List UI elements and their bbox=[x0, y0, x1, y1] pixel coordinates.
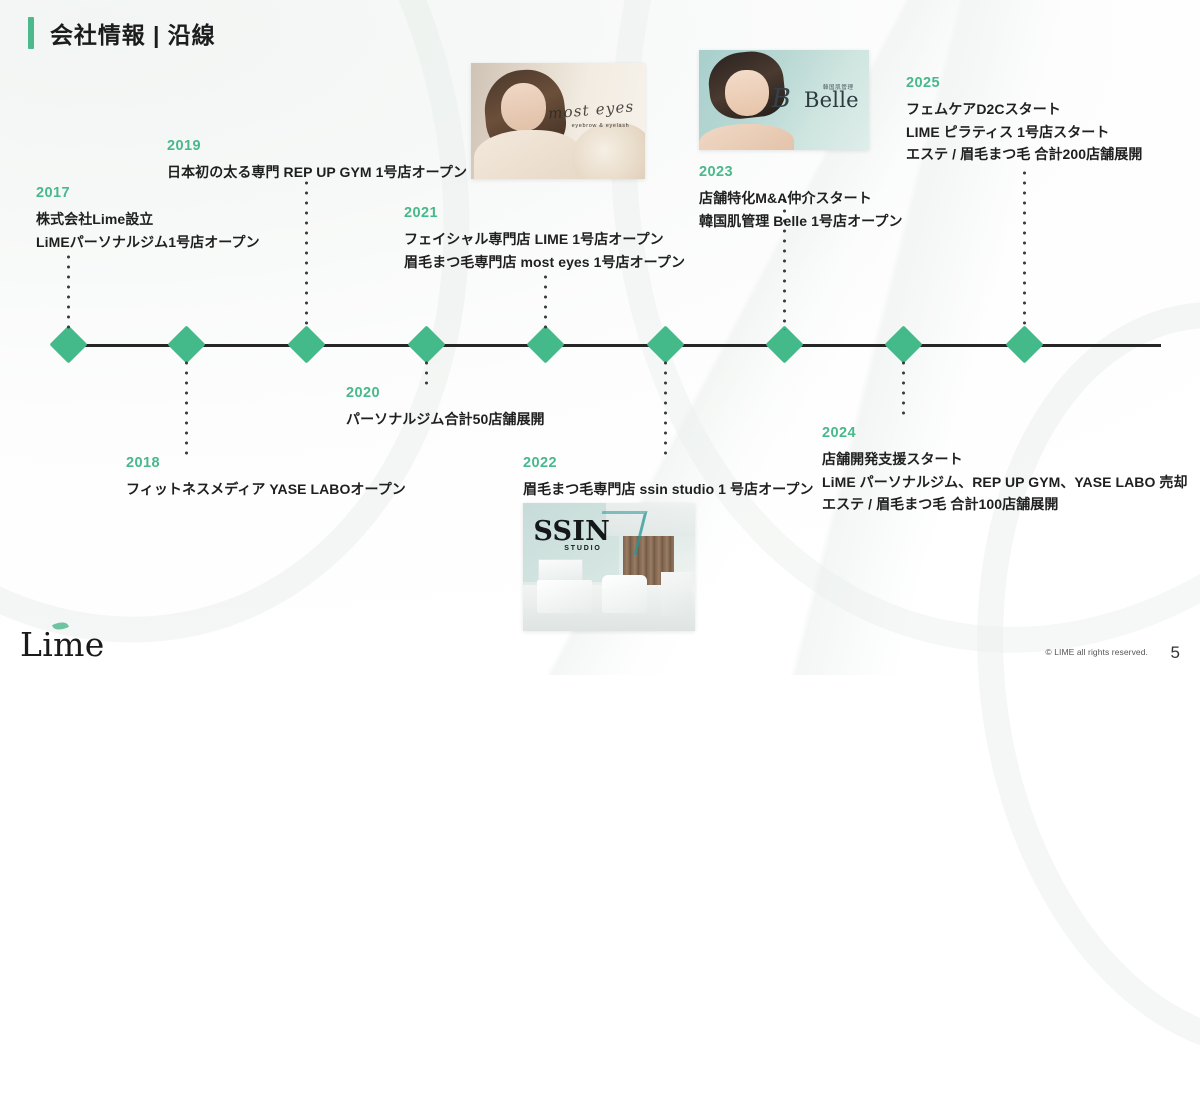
belle-monogram: B bbox=[772, 84, 791, 114]
belle-logo: Belle bbox=[804, 88, 859, 112]
timeline-entry-2022: 2022 眉毛まつ毛専門店 ssin studio 1 号店オープン bbox=[523, 455, 814, 501]
entry-year-2017: 2017 bbox=[36, 185, 260, 201]
photo-detail bbox=[725, 70, 769, 116]
timeline-entry-2018: 2018 フィットネスメディア YASE LABOオープン bbox=[126, 455, 406, 501]
photo-detail bbox=[602, 575, 647, 613]
entry-year-2019: 2019 bbox=[167, 138, 467, 154]
entry-text-2017: 株式会社Lime設立 LiMEパーソナルジム1号店オープン bbox=[36, 208, 260, 253]
entry-text-2021: フェイシャル専門店 LIME 1号店オープン 眉毛まつ毛専門店 most eye… bbox=[404, 228, 685, 273]
diamond-marker bbox=[1005, 325, 1043, 363]
timeline-entry-2019: 2019 日本初の太る専門 REP UP GYM 1号店オープン bbox=[167, 138, 467, 184]
entry-text-2023: 店舗特化M&A仲介スタート 韓国肌管理 Belle 1号店オープン bbox=[699, 187, 903, 232]
timeline-node-2025[interactable] bbox=[1011, 331, 1038, 358]
entry-line: 眉毛まつ毛専門店 ssin studio 1 号店オープン bbox=[523, 478, 814, 501]
header-accent-bar bbox=[28, 17, 34, 49]
entry-text-2025: フェムケアD2Cスタート LIME ピラティス 1号店スタート エステ / 眉毛… bbox=[906, 98, 1142, 166]
page-number: 5 bbox=[1171, 643, 1180, 663]
entry-year-2022: 2022 bbox=[523, 455, 814, 471]
entry-line: LiME パーソナルジム、REP UP GYM、YASE LABO 売却 bbox=[822, 471, 1188, 494]
photo-detail bbox=[501, 83, 546, 132]
copyright-text: © LIME all rights reserved. bbox=[1045, 647, 1148, 657]
entry-line: エステ / 眉毛まつ毛 合計200店舗展開 bbox=[906, 143, 1142, 166]
timeline-node-2020[interactable] bbox=[413, 331, 440, 358]
timeline-node-2019[interactable] bbox=[293, 331, 320, 358]
diamond-marker bbox=[526, 325, 564, 363]
timeline-node-2022[interactable] bbox=[652, 331, 679, 358]
entry-line: LIME ピラティス 1号店スタート bbox=[906, 121, 1142, 144]
most-eyes-sublabel: eyebrow & eyelash bbox=[572, 123, 630, 129]
entry-line: 店舗開発支援スタート bbox=[822, 448, 1188, 471]
diamond-marker bbox=[287, 325, 325, 363]
entry-line: パーソナルジム合計50店舗展開 bbox=[346, 408, 545, 431]
entry-year-2024: 2024 bbox=[822, 425, 1188, 441]
entry-line: 韓国肌管理 Belle 1号店オープン bbox=[699, 210, 903, 233]
entry-line: 眉毛まつ毛専門店 most eyes 1号店オープン bbox=[404, 251, 685, 274]
slide-header: 会社情報 | 沿線 bbox=[28, 16, 216, 50]
photo-detail bbox=[661, 572, 692, 616]
connector-2020 bbox=[425, 358, 428, 386]
page-title: 会社情報 | 沿線 bbox=[50, 16, 216, 50]
photo-most-eyes: most eyes eyebrow & eyelash bbox=[471, 63, 645, 179]
connector-2022 bbox=[664, 358, 667, 456]
entry-text-2024: 店舗開発支援スタート LiME パーソナルジム、REP UP GYM、YASE … bbox=[822, 448, 1188, 516]
timeline-node-2024[interactable] bbox=[890, 331, 917, 358]
entry-year-2023: 2023 bbox=[699, 164, 903, 180]
entry-year-2025: 2025 bbox=[906, 75, 1142, 91]
diamond-marker bbox=[49, 325, 87, 363]
logo-text: Lime bbox=[20, 625, 105, 664]
entry-line: フェイシャル専門店 LIME 1号店オープン bbox=[404, 228, 685, 251]
timeline-node-2023[interactable] bbox=[771, 331, 798, 358]
entry-year-2018: 2018 bbox=[126, 455, 406, 471]
ssin-logo: SSIN bbox=[533, 518, 610, 545]
entry-line: 店舗特化M&A仲介スタート bbox=[699, 187, 903, 210]
connector-2019 bbox=[305, 178, 308, 330]
connector-2018 bbox=[185, 358, 188, 456]
photo-belle: B 韓国肌管理 Belle bbox=[699, 50, 869, 150]
entry-year-2021: 2021 bbox=[404, 205, 685, 221]
photo-detail bbox=[537, 580, 592, 613]
timeline-axis bbox=[58, 344, 1161, 347]
entry-line: フェムケアD2Cスタート bbox=[906, 98, 1142, 121]
timeline-entry-2024: 2024 店舗開発支援スタート LiME パーソナルジム、REP UP GYM、… bbox=[822, 425, 1188, 516]
entry-text-2018: フィットネスメディア YASE LABOオープン bbox=[126, 478, 406, 501]
entry-line: フィットネスメディア YASE LABOオープン bbox=[126, 478, 406, 501]
entry-line: 日本初の太る専門 REP UP GYM 1号店オープン bbox=[167, 161, 467, 184]
timeline-entry-2021: 2021 フェイシャル専門店 LIME 1号店オープン 眉毛まつ毛専門店 mos… bbox=[404, 205, 685, 273]
entry-line: 株式会社Lime設立 bbox=[36, 208, 260, 231]
timeline-entry-2017: 2017 株式会社Lime設立 LiMEパーソナルジム1号店オープン bbox=[36, 185, 260, 253]
connector-2024 bbox=[902, 358, 905, 420]
entry-line: エステ / 眉毛まつ毛 合計100店舗展開 bbox=[822, 493, 1188, 516]
entry-text-2019: 日本初の太る専門 REP UP GYM 1号店オープン bbox=[167, 161, 467, 184]
photo-detail bbox=[699, 124, 794, 150]
photo-detail bbox=[572, 123, 645, 179]
timeline-entry-2023: 2023 店舗特化M&A仲介スタート 韓国肌管理 Belle 1号店オープン bbox=[699, 164, 903, 232]
company-logo: Lime bbox=[20, 628, 105, 661]
entry-text-2022: 眉毛まつ毛専門店 ssin studio 1 号店オープン bbox=[523, 478, 814, 501]
ssin-sublabel: STUDIO bbox=[564, 545, 601, 552]
connector-2021 bbox=[544, 272, 547, 330]
timeline-node-2021[interactable] bbox=[532, 331, 559, 358]
connector-2025 bbox=[1023, 168, 1026, 330]
timeline-node-2018[interactable] bbox=[173, 331, 200, 358]
photo-ssin-studio: SSIN STUDIO bbox=[523, 503, 695, 631]
timeline-node-2017[interactable] bbox=[55, 331, 82, 358]
background-swoosh-right bbox=[930, 268, 1200, 1093]
timeline-entry-2020: 2020 パーソナルジム合計50店舗展開 bbox=[346, 385, 545, 431]
diamond-marker bbox=[765, 325, 803, 363]
entry-year-2020: 2020 bbox=[346, 385, 545, 401]
timeline-entry-2025: 2025 フェムケアD2Cスタート LIME ピラティス 1号店スタート エステ… bbox=[906, 75, 1142, 166]
photo-detail bbox=[474, 130, 582, 179]
connector-2017 bbox=[67, 252, 70, 330]
entry-line: LiMEパーソナルジム1号店オープン bbox=[36, 231, 260, 254]
entry-text-2020: パーソナルジム合計50店舗展開 bbox=[346, 408, 545, 431]
